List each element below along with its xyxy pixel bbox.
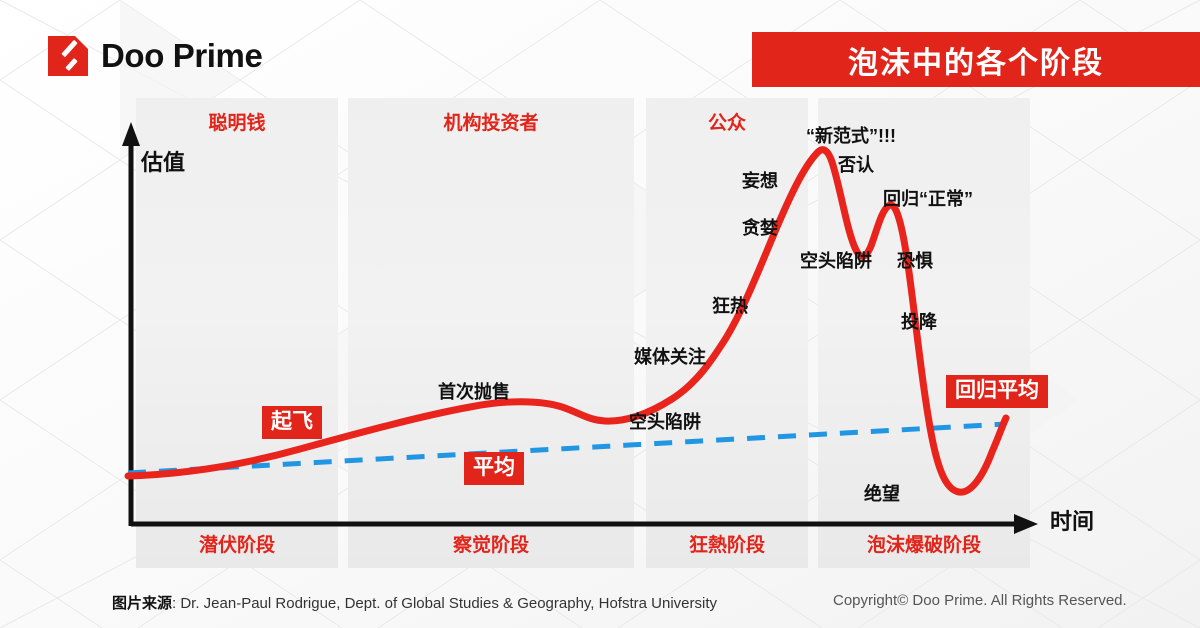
annotation-greed: 贪婪 <box>742 219 778 237</box>
brand-logo[interactable]: Doo Prime <box>48 36 262 76</box>
copyright-notice: Copyright© Doo Prime. All Rights Reserve… <box>833 592 1127 609</box>
phase-band-2 <box>348 98 634 568</box>
annotation-delusion: 妄想 <box>742 172 778 190</box>
phase-top-label-3: 公众 <box>646 114 808 133</box>
phase-top-label-1: 聪明钱 <box>136 114 338 133</box>
tag-takeoff: 起飞 <box>262 406 322 439</box>
annotation-denial: 否认 <box>838 156 874 174</box>
brand-name: Doo Prime <box>101 37 262 75</box>
annotation-bear-trap-2: 空头陷阱 <box>800 252 872 270</box>
annotation-first-sell-off: 首次抛售 <box>438 383 510 401</box>
annotation-return-to-normal: 回归“正常” <box>883 190 973 208</box>
annotation-media-attention: 媒体关注 <box>634 348 706 366</box>
x-axis-label: 时间 <box>1050 511 1094 533</box>
source-credit-prefix: 图片来源 <box>112 595 172 612</box>
phase-bottom-label-1: 潜伏阶段 <box>136 536 338 555</box>
y-axis-label: 估值 <box>141 152 185 174</box>
annotation-capitulation: 投降 <box>901 313 937 331</box>
tag-return-to-mean: 回归平均 <box>946 375 1048 408</box>
source-credit: 图片来源: Dr. Jean-Paul Rodrigue, Dept. of G… <box>112 592 717 613</box>
tag-mean: 平均 <box>464 452 524 485</box>
annotation-fear: 恐惧 <box>897 252 933 270</box>
footer: 图片来源: Dr. Jean-Paul Rodrigue, Dept. of G… <box>0 578 1200 628</box>
phase-bottom-label-4: 泡沫爆破阶段 <box>818 536 1030 555</box>
doo-prime-square-pen-icon <box>48 36 88 76</box>
annotation-bear-trap-1: 空头陷阱 <box>629 413 701 431</box>
phase-top-label-2: 机构投资者 <box>348 114 634 133</box>
annotation-new-paradigm: “新范式”!!! <box>806 127 896 145</box>
phase-bottom-label-3: 狂熱阶段 <box>646 536 808 555</box>
annotation-despair: 绝望 <box>864 485 900 503</box>
phase-bottom-label-2: 察觉阶段 <box>348 536 634 555</box>
page-title: 泡沫中的各个阶段 <box>848 38 1104 82</box>
annotation-enthusiasm: 狂热 <box>712 297 748 315</box>
source-credit-body: : Dr. Jean-Paul Rodrigue, Dept. of Globa… <box>172 595 717 612</box>
title-banner: 泡沫中的各个阶段 <box>752 32 1200 87</box>
phase-band-3 <box>646 98 808 568</box>
infographic-canvas: Doo Prime 泡沫中的各个阶段 聪明钱 机构投资者 公众 潜伏阶段 察觉阶… <box>0 0 1200 628</box>
